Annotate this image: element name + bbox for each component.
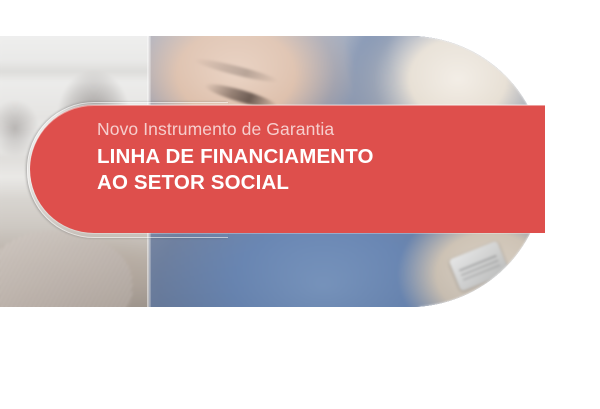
knit-blanket-detail: [0, 231, 132, 307]
id-badge-icon: [449, 240, 510, 291]
headline-line-2: AO SETOR SOCIAL: [97, 170, 374, 197]
caregiver-brow-detail: [193, 56, 279, 86]
headline-line-1: LINHA DE FINANCIAMENTO: [97, 144, 374, 171]
poster-canvas: Novo Instrumento de Garantia LINHA DE FI…: [0, 0, 600, 409]
eyebrow-text: Novo Instrumento de Garantia: [97, 118, 374, 142]
headline-block: Novo Instrumento de Garantia LINHA DE FI…: [97, 118, 374, 197]
